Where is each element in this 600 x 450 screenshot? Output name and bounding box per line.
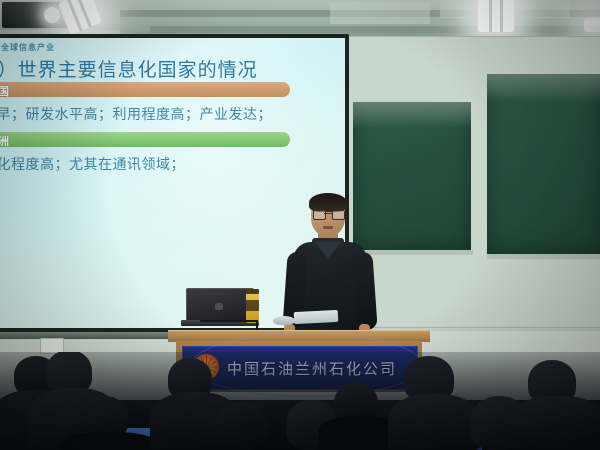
blackboard-divider [475, 36, 482, 326]
slide-title: 2）世界主要信息化国家的情况 [0, 55, 258, 82]
slide-band-orange: 国 [0, 82, 290, 97]
laptop-logo-icon [215, 303, 223, 310]
slide-band-green: 洲 [0, 132, 290, 147]
audience-head [566, 402, 600, 450]
computer-mouse [273, 316, 295, 325]
gold-tea-bottle-label [246, 300, 259, 311]
slide-band-orange-label: 国 [0, 83, 9, 99]
presenter-mouth [323, 226, 333, 229]
presenter-right-arm [352, 251, 377, 330]
ceiling-lamp-far-right [584, 18, 600, 32]
lecture-hall-photo: 部分：全球信息产业 2）世界主要信息化国家的情况 国 步早；研发水平高；利用程度… [0, 0, 600, 450]
slide-bullet-2: 息化程度高；尤其在通讯领域； [0, 154, 185, 174]
audience [0, 352, 600, 450]
power-cable [200, 320, 258, 322]
blackboard-assembly [345, 36, 600, 326]
projector-lens-icon [44, 7, 60, 23]
audience-shoulders [388, 394, 480, 450]
gold-tea-bottle-cap [246, 289, 259, 294]
chalk-tray-right [487, 254, 600, 259]
slide-kicker: 部分：全球信息产业 [0, 42, 55, 53]
audience-shoulders [60, 432, 160, 450]
glasses-icon [313, 210, 343, 218]
slide-band-green-label: 洲 [0, 133, 9, 149]
ceiling-lamp-right [478, 0, 514, 32]
paper-stack [294, 310, 339, 324]
slide-bullet-1: 步早；研发水平高；利用程度高；产业发达； [0, 104, 272, 124]
laptop-screen [186, 288, 254, 324]
audience-head [216, 402, 268, 450]
